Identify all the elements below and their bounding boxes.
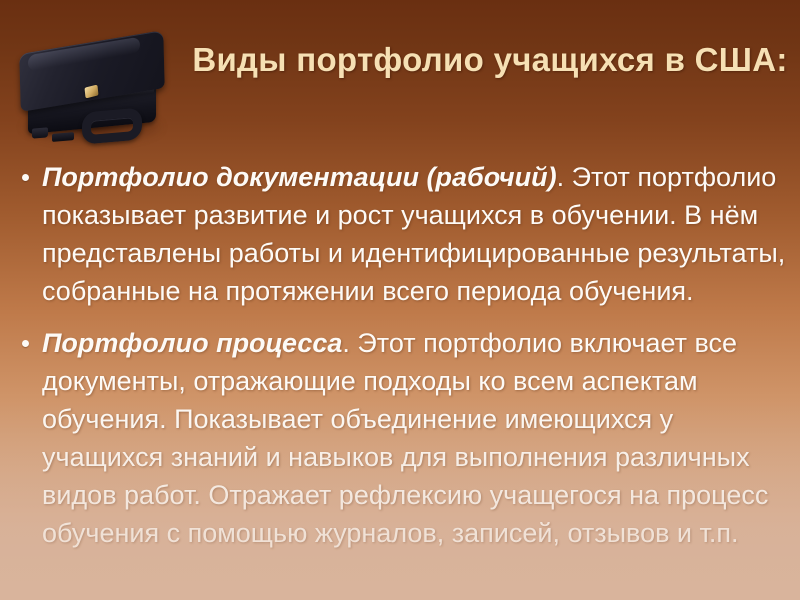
list-item: Портфолио процесса. Этот портфолио включ… xyxy=(10,324,790,552)
slide-body: Портфолио документации (рабочий). Этот п… xyxy=(10,158,790,566)
bullet-lead-term: Портфолио процесса xyxy=(42,328,342,358)
presentation-slide: Виды портфолио учащихся в США: Портфолио… xyxy=(0,0,800,600)
briefcase-illustration xyxy=(8,24,178,156)
bullet-lead-term: Портфолио документации (рабочий) xyxy=(42,162,557,192)
briefcase-corner-hardware xyxy=(32,127,48,138)
slide-title: Виды портфолио учащихся в США: xyxy=(190,40,790,80)
bullet-body-text: . Этот портфолио включает все документы,… xyxy=(42,328,768,548)
briefcase-handle xyxy=(82,107,142,144)
list-item: Портфолио документации (рабочий). Этот п… xyxy=(10,158,790,310)
